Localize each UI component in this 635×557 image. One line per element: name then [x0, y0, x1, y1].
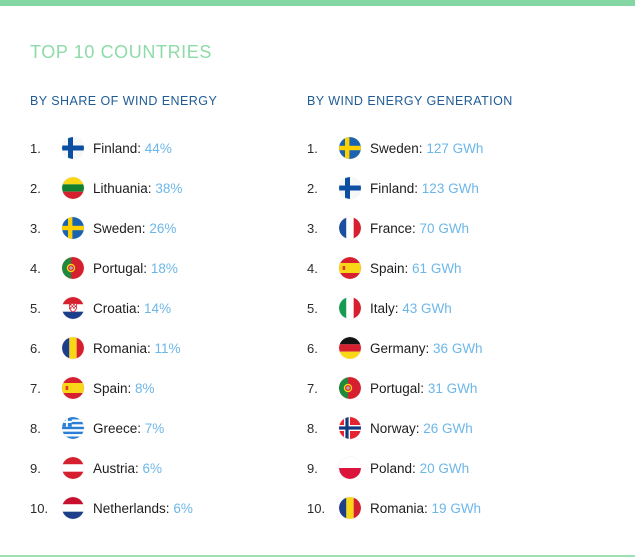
country-value: 26 GWh — [423, 421, 473, 436]
rank-number: 4. — [30, 261, 62, 276]
list-item[interactable]: 4.Portugal: 18% — [30, 248, 297, 288]
list-item[interactable]: 10.Netherlands: 6% — [30, 488, 297, 528]
country-name: Sweden: — [370, 141, 423, 156]
list-item[interactable]: 10.Romania: 19 GWh — [307, 488, 635, 528]
rank-number: 7. — [30, 381, 62, 396]
rank-number: 9. — [307, 461, 339, 476]
country-name: Portugal: — [370, 381, 424, 396]
flag-germany-icon — [339, 337, 361, 359]
flag-portugal-icon — [62, 257, 84, 279]
country-entry: Germany: 36 GWh — [370, 341, 483, 356]
country-value: 43 GWh — [402, 301, 452, 316]
flag-lithuania-icon — [62, 177, 84, 199]
country-name: Lithuania: — [93, 181, 152, 196]
country-name: Finland: — [370, 181, 418, 196]
country-value: 8% — [135, 381, 155, 396]
flag-austria-icon — [62, 457, 84, 479]
country-value: 123 GWh — [422, 181, 479, 196]
rank-number: 5. — [30, 301, 62, 316]
column-wind-energy-generation: BY WIND ENERGY GENERATION 1.Sweden: 127 … — [297, 94, 635, 528]
country-entry: Poland: 20 GWh — [370, 461, 469, 476]
list-item[interactable]: 8.Greece: 7% — [30, 408, 297, 448]
country-entry: Sweden: 127 GWh — [370, 141, 483, 156]
rank-number: 2. — [307, 181, 339, 196]
country-name: Spain: — [93, 381, 131, 396]
rank-number: 8. — [30, 421, 62, 436]
column-share-of-wind-energy: BY SHARE OF WIND ENERGY 1.Finland: 44%2.… — [0, 94, 297, 528]
flag-romania-icon — [339, 497, 361, 519]
flag-spain-icon — [339, 257, 361, 279]
country-value: 7% — [145, 421, 165, 436]
list-item[interactable]: 5.Italy: 43 GWh — [307, 288, 635, 328]
country-name: Romania: — [93, 341, 151, 356]
country-value: 44% — [145, 141, 172, 156]
flag-sweden-icon — [62, 217, 84, 239]
country-value: 6% — [173, 501, 193, 516]
rank-number: 5. — [307, 301, 339, 316]
country-entry: Sweden: 26% — [93, 221, 176, 236]
rank-number: 6. — [30, 341, 62, 356]
column-header-share: BY SHARE OF WIND ENERGY — [30, 94, 297, 108]
list-item[interactable]: 7.Spain: 8% — [30, 368, 297, 408]
country-name: Norway: — [370, 421, 420, 436]
flag-sweden-icon — [339, 137, 361, 159]
country-name: Netherlands: — [93, 501, 170, 516]
country-entry: Finland: 123 GWh — [370, 181, 479, 196]
country-name: Italy: — [370, 301, 399, 316]
country-name: Austria: — [93, 461, 139, 476]
list-item[interactable]: 3.Sweden: 26% — [30, 208, 297, 248]
columns-container: BY SHARE OF WIND ENERGY 1.Finland: 44%2.… — [0, 94, 635, 528]
country-value: 19 GWh — [432, 501, 482, 516]
country-name: Finland: — [93, 141, 141, 156]
country-value: 14% — [144, 301, 171, 316]
rank-number: 10. — [30, 501, 62, 516]
flag-poland-icon — [339, 457, 361, 479]
country-entry: Romania: 19 GWh — [370, 501, 481, 516]
rank-number: 3. — [307, 221, 339, 236]
rank-number: 7. — [307, 381, 339, 396]
country-entry: Spain: 8% — [93, 381, 155, 396]
country-entry: Portugal: 18% — [93, 261, 178, 276]
country-name: Spain: — [370, 261, 408, 276]
rank-number: 8. — [307, 421, 339, 436]
flag-spain-icon — [62, 377, 84, 399]
country-entry: Romania: 11% — [93, 341, 181, 356]
rank-number: 9. — [30, 461, 62, 476]
list-item[interactable]: 2.Finland: 123 GWh — [307, 168, 635, 208]
rank-number: 3. — [30, 221, 62, 236]
list-item[interactable]: 3.France: 70 GWh — [307, 208, 635, 248]
country-value: 20 GWh — [420, 461, 470, 476]
rank-number: 2. — [30, 181, 62, 196]
list-item[interactable]: 7.Portugal: 31 GWh — [307, 368, 635, 408]
page-title: TOP 10 COUNTRIES — [30, 42, 212, 63]
list-item[interactable]: 5.Croatia: 14% — [30, 288, 297, 328]
rank-list-share: 1.Finland: 44%2.Lithuania: 38%3.Sweden: … — [30, 128, 297, 528]
flag-norway-icon — [339, 417, 361, 439]
country-entry: Portugal: 31 GWh — [370, 381, 477, 396]
country-value: 31 GWh — [428, 381, 478, 396]
country-name: Sweden: — [93, 221, 146, 236]
country-entry: Greece: 7% — [93, 421, 164, 436]
flag-finland-icon — [339, 177, 361, 199]
flag-romania-icon — [62, 337, 84, 359]
flag-finland-icon — [62, 137, 84, 159]
country-name: Croatia: — [93, 301, 140, 316]
country-name: France: — [370, 221, 416, 236]
country-value: 18% — [151, 261, 178, 276]
rank-number: 10. — [307, 501, 339, 516]
country-entry: Lithuania: 38% — [93, 181, 182, 196]
country-value: 127 GWh — [426, 141, 483, 156]
flag-greece-icon — [62, 417, 84, 439]
rank-number: 4. — [307, 261, 339, 276]
country-entry: Norway: 26 GWh — [370, 421, 473, 436]
country-value: 6% — [143, 461, 163, 476]
country-name: Greece: — [93, 421, 141, 436]
list-item[interactable]: 4.Spain: 61 GWh — [307, 248, 635, 288]
country-value: 26% — [149, 221, 176, 236]
rank-number: 1. — [307, 141, 339, 156]
country-value: 38% — [155, 181, 182, 196]
list-item[interactable]: 8.Norway: 26 GWh — [307, 408, 635, 448]
rank-list-generation: 1.Sweden: 127 GWh2.Finland: 123 GWh3.Fra… — [307, 128, 635, 528]
flag-italy-icon — [339, 297, 361, 319]
country-value: 36 GWh — [433, 341, 483, 356]
country-entry: Italy: 43 GWh — [370, 301, 452, 316]
country-name: Portugal: — [93, 261, 147, 276]
flag-croatia-icon — [62, 297, 84, 319]
list-item[interactable]: 6.Germany: 36 GWh — [307, 328, 635, 368]
list-item[interactable]: 9.Austria: 6% — [30, 448, 297, 488]
country-entry: Netherlands: 6% — [93, 501, 193, 516]
country-value: 61 GWh — [412, 261, 462, 276]
list-item[interactable]: 6.Romania: 11% — [30, 328, 297, 368]
country-value: 11% — [155, 341, 181, 356]
country-entry: Finland: 44% — [93, 141, 172, 156]
country-value: 70 GWh — [420, 221, 470, 236]
list-item[interactable]: 2.Lithuania: 38% — [30, 168, 297, 208]
country-entry: Spain: 61 GWh — [370, 261, 462, 276]
flag-portugal-icon — [339, 377, 361, 399]
flag-netherlands-icon — [62, 497, 84, 519]
country-name: Romania: — [370, 501, 428, 516]
rank-number: 6. — [307, 341, 339, 356]
list-item[interactable]: 1.Finland: 44% — [30, 128, 297, 168]
country-entry: France: 70 GWh — [370, 221, 469, 236]
list-item[interactable]: 9.Poland: 20 GWh — [307, 448, 635, 488]
country-entry: Croatia: 14% — [93, 301, 171, 316]
column-header-generation: BY WIND ENERGY GENERATION — [307, 94, 635, 108]
country-name: Poland: — [370, 461, 416, 476]
top-10-countries-panel: TOP 10 COUNTRIES BY SHARE OF WIND ENERGY… — [0, 0, 635, 557]
list-item[interactable]: 1.Sweden: 127 GWh — [307, 128, 635, 168]
rank-number: 1. — [30, 141, 62, 156]
country-entry: Austria: 6% — [93, 461, 162, 476]
country-name: Germany: — [370, 341, 429, 356]
flag-france-icon — [339, 217, 361, 239]
